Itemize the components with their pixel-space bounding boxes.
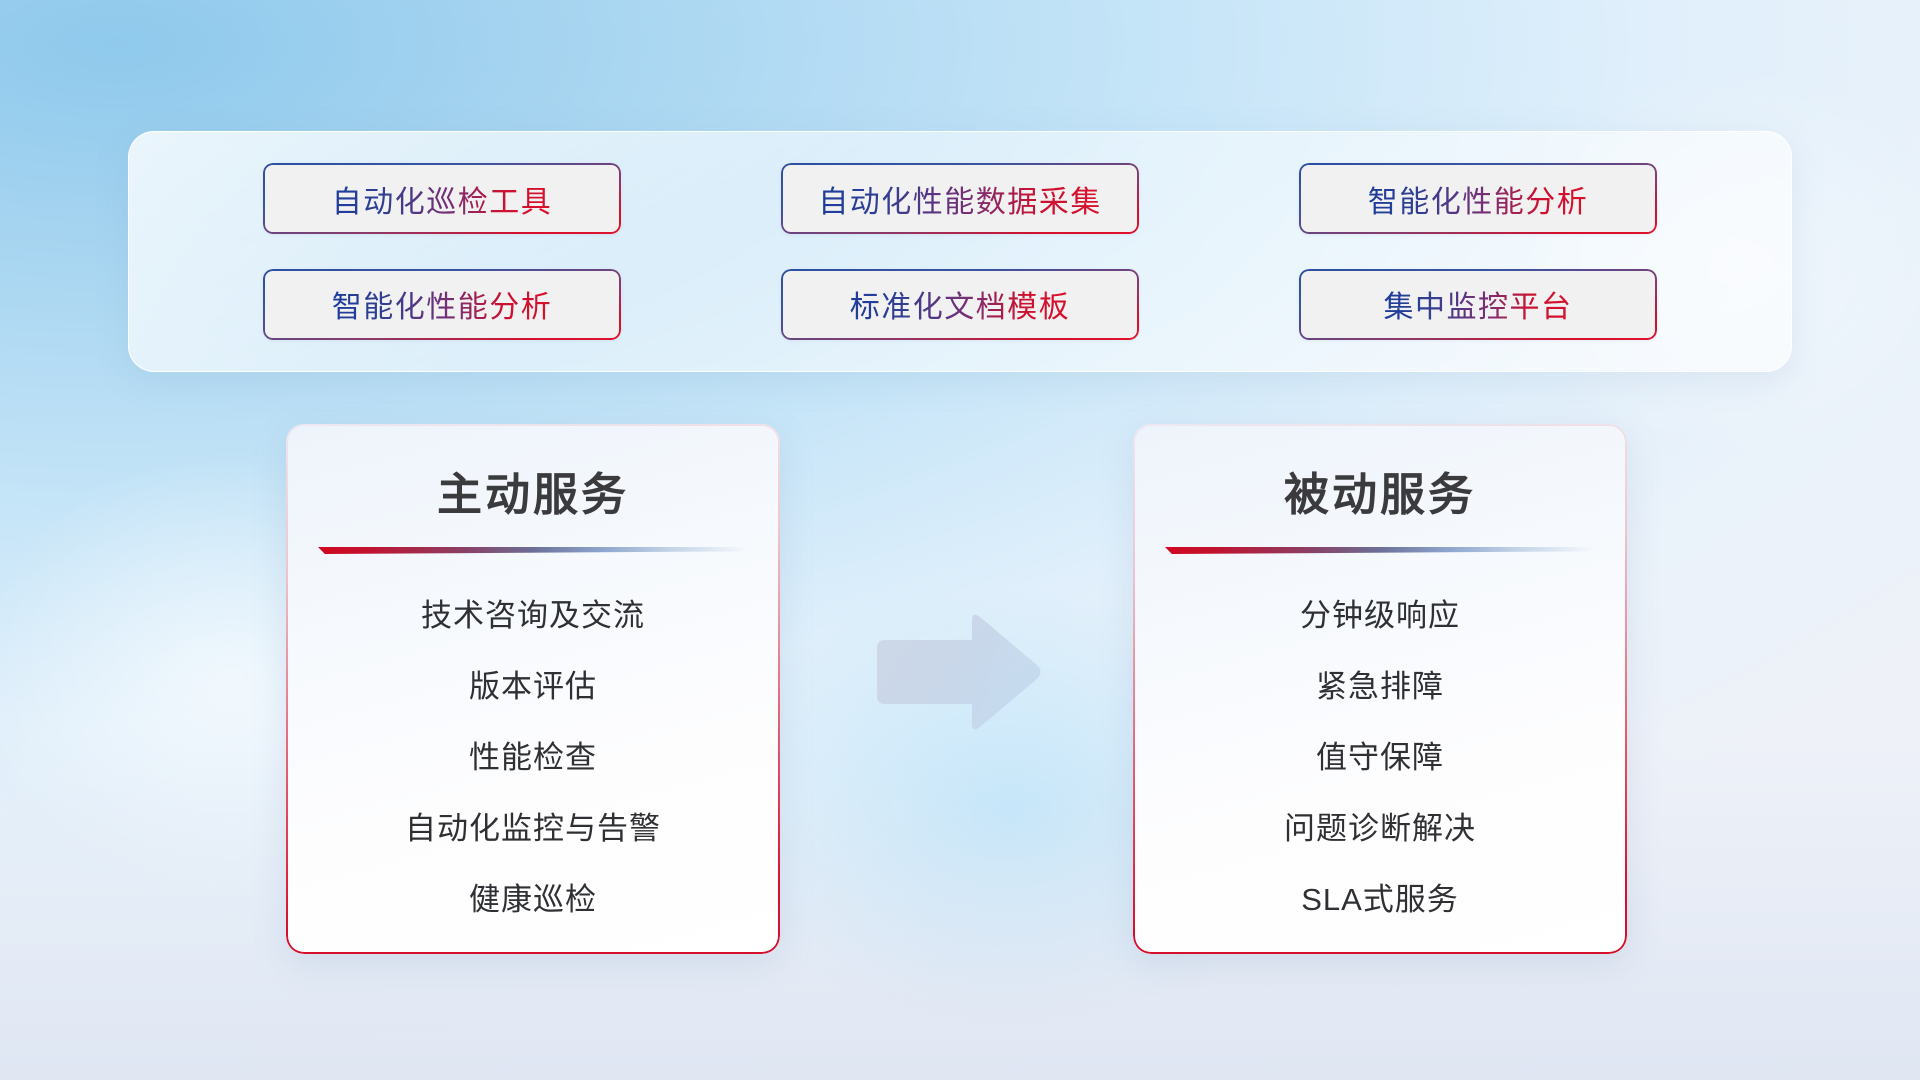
capability-tag-grid: 自动化巡检工具 自动化性能数据采集 智能化性能分析 智能化性能分析 标准化文档模… xyxy=(129,132,1791,371)
card-title: 被动服务 xyxy=(1133,458,1627,523)
service-item: 版本评估 xyxy=(310,651,756,722)
capability-tag-2[interactable]: 自动化性能数据采集 xyxy=(781,163,1139,234)
card-title: 主动服务 xyxy=(286,458,780,523)
capability-tag-label: 智能化性能分析 xyxy=(1368,177,1589,221)
capability-tag-5[interactable]: 标准化文档模板 xyxy=(781,269,1139,340)
service-item: 技术咨询及交流 xyxy=(310,580,756,651)
service-item: 分钟级响应 xyxy=(1157,580,1603,651)
capability-tag-label: 自动化性能数据采集 xyxy=(818,177,1102,221)
service-item: 紧急排障 xyxy=(1157,651,1603,722)
capability-tag-1[interactable]: 自动化巡检工具 xyxy=(263,163,621,234)
capability-tag-4[interactable]: 智能化性能分析 xyxy=(263,269,621,340)
capability-tag-label: 智能化性能分析 xyxy=(332,282,553,326)
service-item-list: 分钟级响应 紧急排障 值守保障 问题诊断解决 SLA式服务 xyxy=(1133,580,1627,935)
service-item-list: 技术咨询及交流 版本评估 性能检查 自动化监控与告警 健康巡检 xyxy=(286,580,780,935)
card-title-divider xyxy=(1165,547,1595,554)
service-item: 自动化监控与告警 xyxy=(310,793,756,864)
capability-panel: 自动化巡检工具 自动化性能数据采集 智能化性能分析 智能化性能分析 标准化文档模… xyxy=(128,131,1792,372)
service-item: 问题诊断解决 xyxy=(1157,793,1603,864)
service-item: 值守保障 xyxy=(1157,722,1603,793)
arrow-right-icon xyxy=(873,610,1043,735)
capability-tag-3[interactable]: 智能化性能分析 xyxy=(1299,163,1657,234)
card-title-divider xyxy=(318,547,748,554)
service-item: 性能检查 xyxy=(310,722,756,793)
service-item: 健康巡检 xyxy=(310,864,756,935)
service-card-reactive: 被动服务 分钟级响应 紧急排障 值守保障 问题诊断解决 SLA式服务 xyxy=(1133,424,1627,954)
capability-tag-label: 集中监控平台 xyxy=(1384,282,1573,326)
capability-tag-label: 标准化文档模板 xyxy=(850,282,1071,326)
service-card-proactive: 主动服务 技术咨询及交流 版本评估 性能检查 自动化监控与告警 健康巡检 xyxy=(286,424,780,954)
service-item: SLA式服务 xyxy=(1157,864,1603,935)
capability-tag-label: 自动化巡检工具 xyxy=(332,177,553,221)
capability-tag-6[interactable]: 集中监控平台 xyxy=(1299,269,1657,340)
